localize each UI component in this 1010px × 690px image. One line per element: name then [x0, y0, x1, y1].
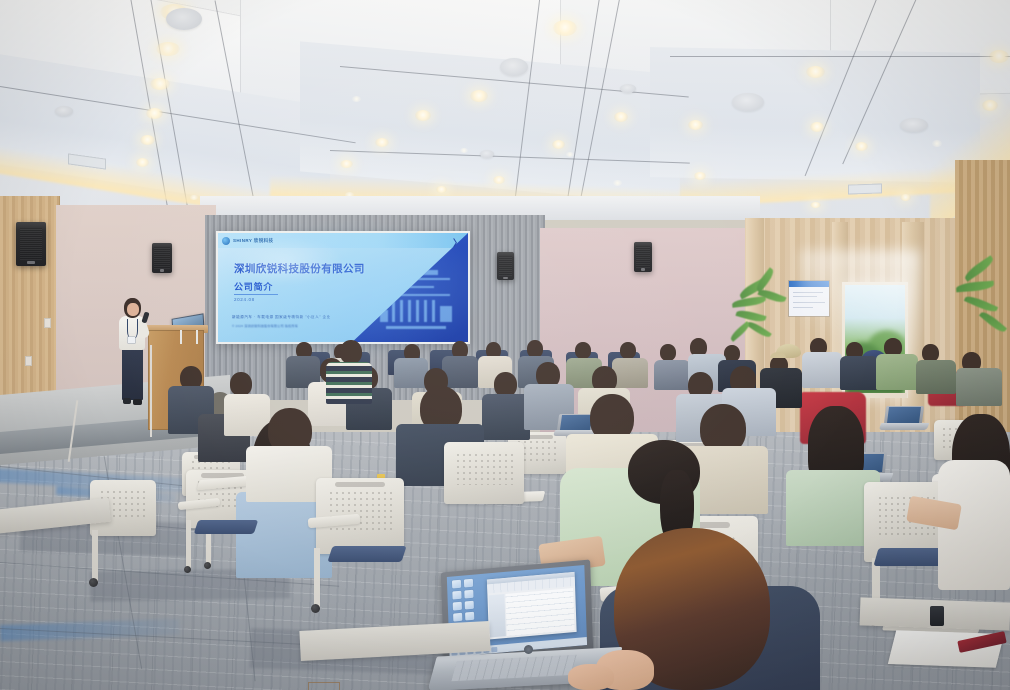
attendee-head [340, 340, 362, 364]
ceiling-downlight [352, 96, 361, 102]
cap-brim [770, 352, 786, 358]
ceiling-downlight [810, 202, 821, 208]
ceiling-downlight [806, 66, 825, 78]
microphone-cable [150, 345, 152, 437]
attendee-torso [802, 352, 842, 388]
hvac-vent [848, 183, 882, 194]
ceiling-downlight [493, 176, 505, 184]
slide-header-bar: SHINRY 欣锐科技 [218, 233, 468, 248]
spreadsheet-window[interactable] [487, 572, 577, 640]
attendee-torso [482, 394, 530, 440]
chair[interactable] [444, 442, 524, 504]
ceiling-downlight [552, 140, 565, 149]
attendee-torso [654, 360, 690, 390]
slide-divider [234, 294, 278, 295]
chair-caster [204, 562, 211, 569]
chair-leg [186, 520, 191, 568]
ceiling-downlight [694, 172, 706, 180]
slide-chevron-icon: 〉 [453, 236, 462, 249]
window-side-pane[interactable] [488, 594, 505, 637]
hp-logo-icon [524, 645, 533, 654]
ceiling-downlight [340, 160, 353, 168]
attendee-head [575, 342, 591, 359]
ceiling-downlight [136, 158, 149, 167]
projection-screen[interactable]: SHINRY 欣锐科技 [216, 231, 470, 344]
attendee-torso [916, 360, 956, 394]
wall-speaker [152, 243, 172, 273]
conference-room-photo: SHINRY 欣锐科技 [0, 0, 1010, 690]
circuit-board-graphic [372, 270, 464, 332]
ceiling-speaker-icon [480, 150, 494, 158]
tripod-knob [930, 606, 944, 626]
ceiling-downlight [553, 20, 577, 36]
ceiling-downlight [415, 110, 431, 121]
ceiling-downlight [156, 42, 180, 56]
ceiling-speaker-icon [55, 106, 73, 116]
ceiling-speaker-icon [166, 8, 202, 30]
presenter-trousers [122, 348, 143, 400]
poster-text-line [793, 296, 817, 297]
ceiling-speaker-icon [732, 93, 764, 111]
attendee-torso [876, 354, 918, 390]
ceiling-downlight [140, 135, 155, 145]
slide-subtitle: 公司简介 [234, 280, 273, 293]
presenter-lanyard [127, 319, 138, 339]
wall-outlet [44, 318, 51, 328]
ceiling-downlight [436, 186, 447, 193]
attendee-laptop[interactable] [880, 406, 928, 432]
slide-accent-triangle [348, 233, 468, 342]
poster-text-line [793, 292, 823, 293]
attendee-head [620, 342, 636, 359]
ceiling-downlight [460, 148, 468, 153]
attendee-head [230, 372, 252, 396]
ceiling-downlight [375, 138, 389, 147]
presenter-shoe [133, 399, 142, 405]
podium-front-panel [308, 682, 340, 690]
ceiling-downlight [989, 50, 1009, 63]
slide-tagline: 新能源汽车 · 车载电源 国家级专精特新 "小巨人" 企业 [232, 315, 331, 320]
presenter-shoe [123, 398, 131, 404]
potted-palm-plant [958, 258, 1010, 368]
poster-text-line [793, 307, 813, 308]
poster-text-line [793, 302, 825, 303]
foreground-hand [568, 664, 614, 690]
ceiling [0, 0, 1010, 218]
ceiling-downlight [932, 140, 942, 147]
ceiling-downlight [190, 195, 198, 200]
chair-caster [311, 604, 320, 613]
presenter-face [127, 303, 139, 316]
slide-title: 深圳欣锐科技股份有限公司 [234, 261, 365, 276]
podium-mic-stand [196, 330, 198, 344]
chair-caster [184, 566, 191, 573]
attendee-torso [612, 358, 648, 388]
attendee-torso-striped [326, 362, 372, 404]
slide-footer: © 2024 深圳欣锐科技股份有限公司 版权所有 [232, 323, 298, 328]
wall-outlet [25, 356, 32, 366]
wall-speaker [16, 222, 46, 266]
ceiling-speaker-icon [900, 118, 928, 132]
ceiling-downlight [614, 112, 628, 122]
chair-leg [92, 530, 98, 582]
ceiling-downlight [900, 194, 911, 201]
ceiling-downlight [810, 122, 824, 132]
ceiling-downlight [146, 108, 163, 119]
ceiling-downlight [613, 180, 622, 186]
attendee-torso [840, 356, 878, 390]
ceiling-downlight [982, 100, 998, 111]
ceiling-downlight [688, 120, 703, 130]
slide-date: 2024.08 [234, 297, 255, 302]
attendee-head [660, 344, 676, 361]
wall-speaker [497, 252, 514, 280]
chair-seat-cushion [194, 520, 259, 534]
ceiling-speaker-icon [620, 84, 636, 93]
chair-caster [89, 578, 98, 587]
ceiling-speaker-icon [500, 58, 528, 76]
company-logo-text: SHINRY 欣锐科技 [233, 238, 273, 244]
spreadsheet-grid[interactable] [505, 588, 574, 636]
wall-speaker [634, 242, 652, 272]
attendee-torso [394, 358, 428, 388]
chair-seat-cushion [327, 546, 406, 562]
company-logo-icon [222, 237, 230, 245]
podium-mic-stand [180, 330, 182, 344]
presentation-slide: SHINRY 欣锐科技 [218, 233, 468, 342]
ceiling-downlight [566, 152, 574, 157]
presenter-badge [128, 337, 135, 343]
ceiling-downlight [470, 90, 488, 102]
attendee-torso [956, 368, 1002, 406]
ceiling-downlight [150, 78, 170, 90]
chair-leg [314, 548, 320, 608]
ceiling-downlight [855, 142, 868, 151]
